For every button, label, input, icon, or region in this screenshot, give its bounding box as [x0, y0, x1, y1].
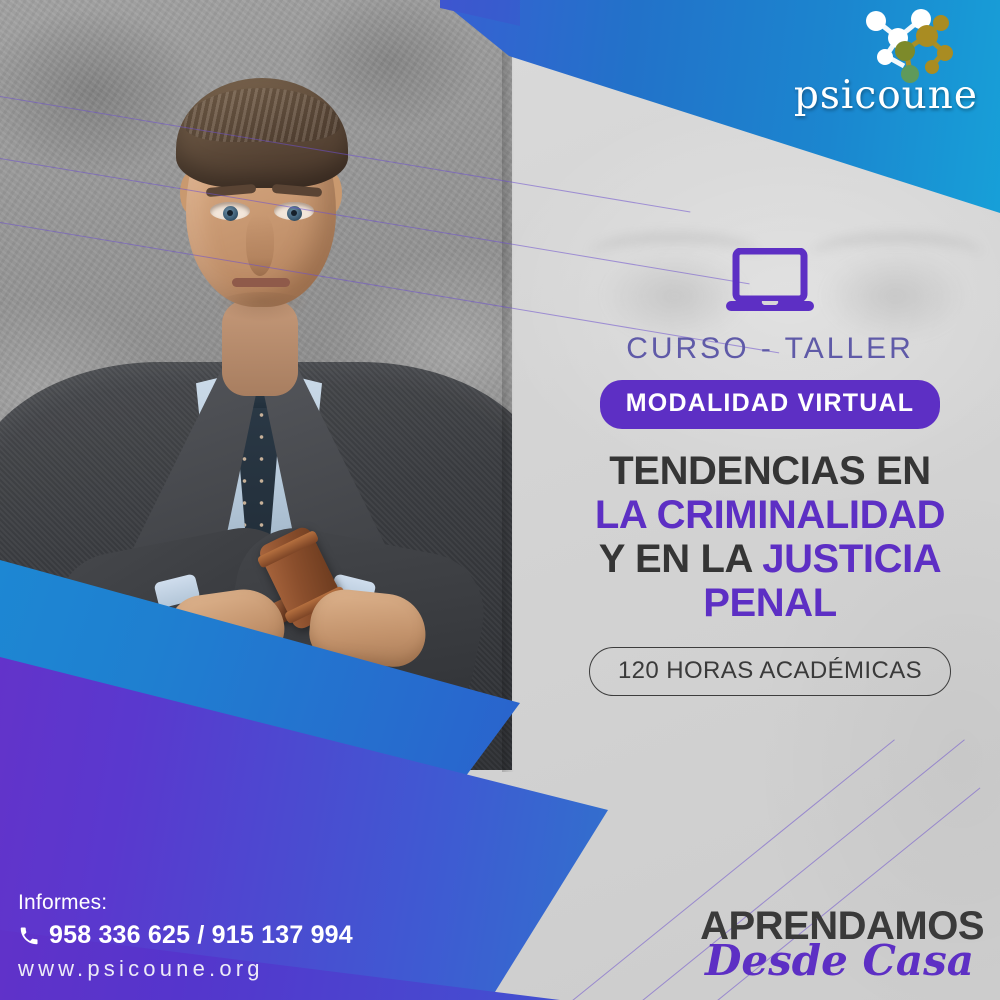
contact-phone-numbers: 958 336 625 / 915 137 994 [49, 921, 353, 950]
contact-block: Informes: 958 336 625 / 915 137 994 www.… [18, 891, 353, 982]
title-line-3-plain: Y EN LA [599, 537, 763, 581]
tagline-bottom: Desde Casa [700, 940, 974, 982]
title-line-3-highlight: JUSTICIA [762, 537, 941, 581]
mouth [232, 278, 290, 287]
title-line-4: PENAL [540, 581, 1000, 625]
phone-icon [18, 925, 40, 947]
contact-website[interactable]: www.psicoune.org [18, 956, 353, 982]
contact-phones-row[interactable]: 958 336 625 / 915 137 994 [18, 921, 353, 950]
brand-logo[interactable]: psicoune [792, 8, 982, 120]
laptop-icon [724, 248, 816, 314]
promotional-poster: psicoune CURSO - TALLER MODALIDAD VIRTUA… [0, 0, 1000, 1000]
photo-edge-shadow [502, 0, 514, 772]
academic-hours-pill: 120 HORAS ACADÉMICAS [589, 647, 951, 696]
title-line-1: TENDENCIAS EN [540, 449, 1000, 493]
hair [176, 78, 348, 188]
course-title: TENDENCIAS EN LA CRIMINALIDAD Y EN LA JU… [540, 449, 1000, 625]
chin-shadow [214, 292, 310, 322]
logo-wordmark: psicoune [794, 73, 978, 118]
modality-badge: MODALIDAD VIRTUAL [600, 380, 940, 429]
course-info-block: CURSO - TALLER MODALIDAD VIRTUAL TENDENC… [540, 248, 1000, 696]
eye-left [210, 202, 250, 220]
title-line-2: LA CRIMINALIDAD [540, 493, 1000, 537]
title-line-3: Y EN LA JUSTICIA [540, 537, 1000, 581]
course-kicker: CURSO - TALLER [540, 332, 1000, 366]
tagline-block: APRENDAMOS Desde Casa [700, 906, 984, 982]
contact-label: Informes: [18, 891, 353, 915]
